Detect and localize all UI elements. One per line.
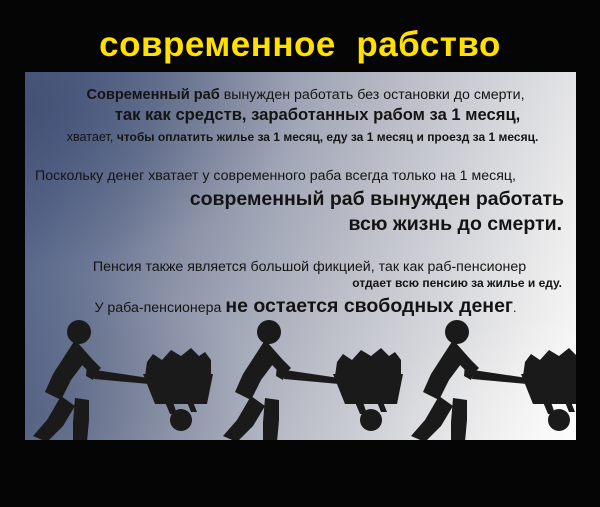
slave-with-cart-icon-2 (221, 316, 421, 440)
paragraph-3-line-1: Пенсия также является большой фикцией, т… (33, 259, 568, 275)
poster-text-block: Современный раб вынужден работать без ос… (25, 72, 576, 317)
paragraph-1-line-3-bold: чтобы оплатить жилье за 1 месяц, еду за … (117, 130, 538, 144)
paragraph-2-line-1: Поскольку денег хватает у современного р… (33, 168, 568, 184)
slave-with-cart-icon-3 (409, 316, 576, 440)
paragraph-1: Современный раб вынужден работать без ос… (33, 86, 568, 146)
paragraph-1-line-3-regular: хватает, (67, 130, 117, 144)
paragraph-1-line-1-bold: Современный раб (86, 87, 219, 103)
paragraph-2-line-2: современный раб вынужден работать (33, 188, 568, 210)
paragraph-1-line-1-regular: вынужден работать без остановки до смерт… (220, 87, 525, 103)
paragraph-3: Пенсия также является большой фикцией, т… (33, 259, 568, 317)
poster-title-bar: современное рабство (0, 20, 600, 68)
paragraph-3-line-3-regular: У раба-пенсионера (94, 300, 225, 316)
paragraph-2-line-3: всю жизнь до смерти. (33, 213, 568, 235)
paragraph-1-line-1: Современный раб вынужден работать без ос… (33, 86, 568, 104)
paragraph-3-line-2: отдает всю пенсию за жилье и еду. (33, 277, 568, 291)
paragraph-3-line-3: У раба-пенсионера не остается свободных … (33, 295, 568, 317)
paragraph-2: Поскольку денег хватает у современного р… (33, 168, 568, 235)
poster-root: современное рабство Современный раб выну… (0, 0, 600, 507)
paragraph-1-line-2: так как средств, заработанных рабом за 1… (33, 106, 568, 125)
paragraph-3-line-3-tail: . (513, 301, 517, 315)
poster-title: современное рабство (99, 27, 501, 62)
paragraph-3-line-3-bold: не остается свободных денег (225, 295, 513, 317)
silhouette-figure-group (25, 316, 576, 440)
paragraph-1-line-3: хватает, чтобы оплатить жилье за 1 месяц… (33, 128, 568, 146)
content-panel: Современный раб вынужден работать без ос… (25, 72, 576, 440)
slave-with-cart-icon-1 (31, 316, 231, 440)
